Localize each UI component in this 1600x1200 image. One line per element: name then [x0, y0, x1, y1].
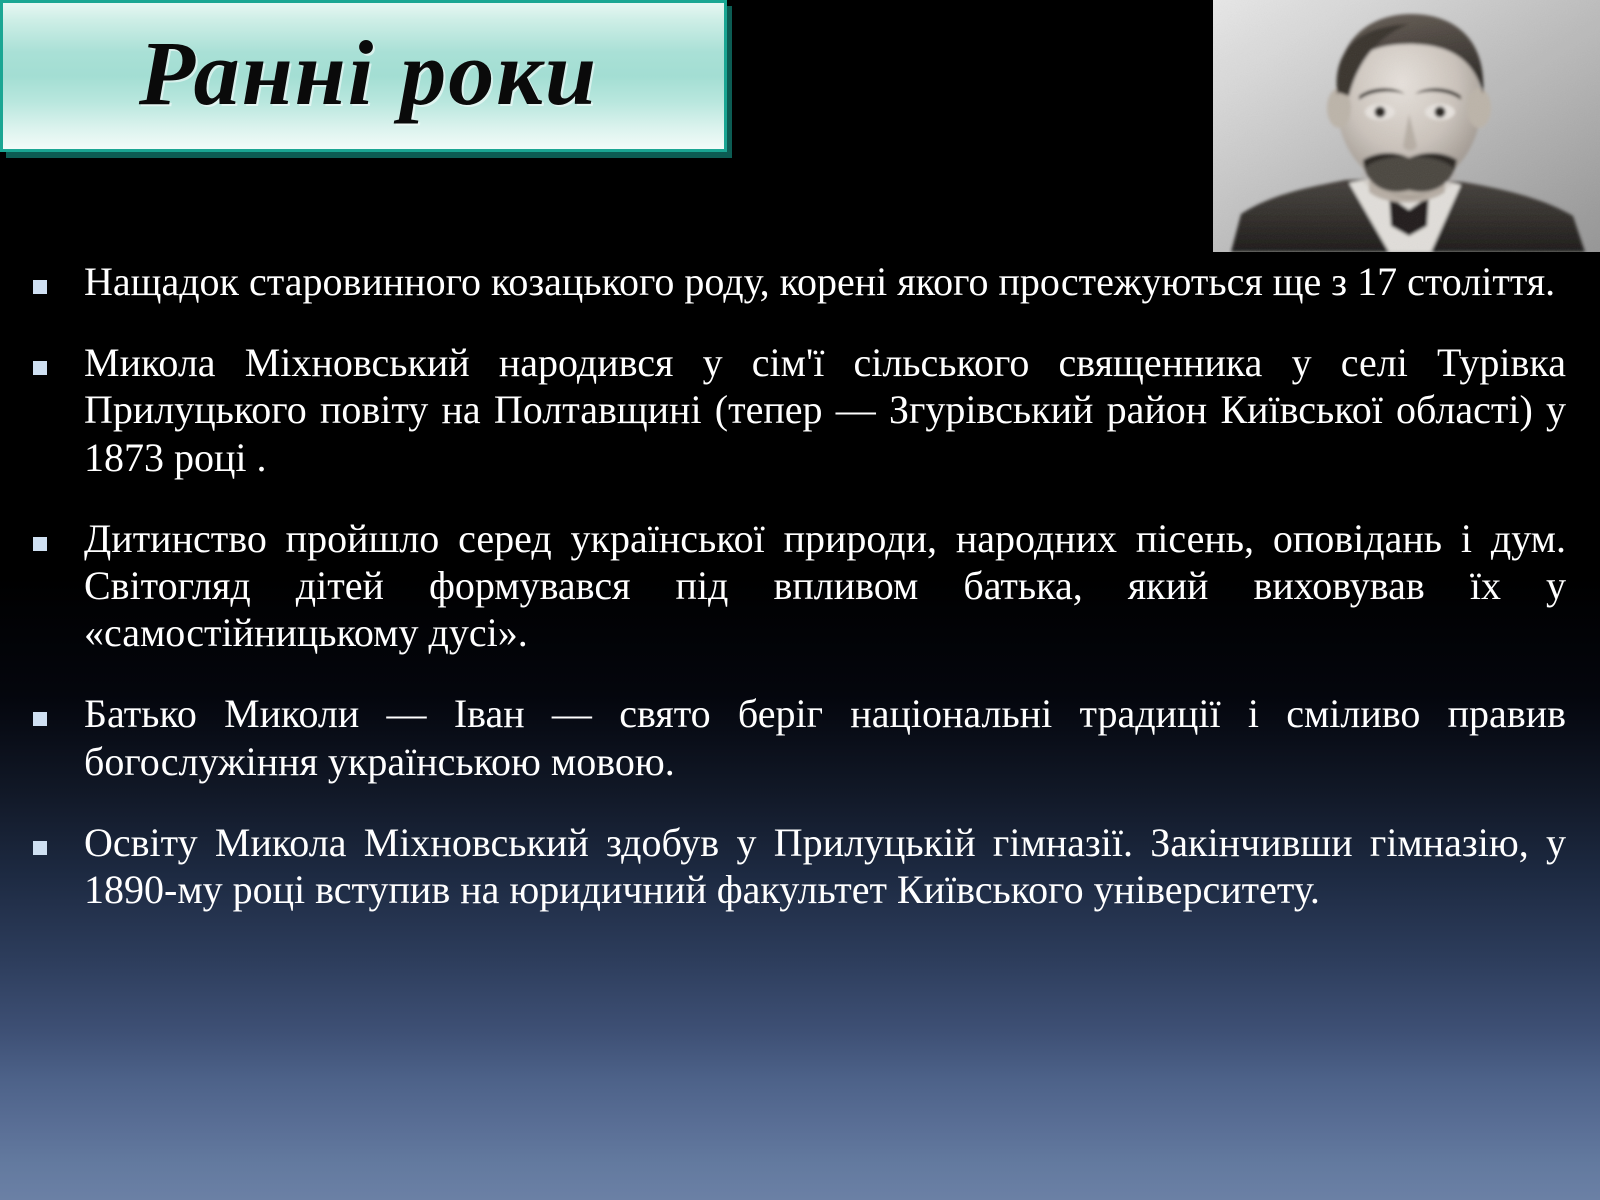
- square-bullet-icon: [33, 712, 47, 726]
- list-item: Нащадок старовинного козацького роду, ко…: [0, 258, 1600, 305]
- title-box: Ранні роки: [0, 0, 727, 152]
- bullet-childhood-text: Дитинство пройшло серед української прир…: [84, 515, 1566, 657]
- list-item: Дитинство пройшло серед української прир…: [0, 515, 1600, 657]
- list-item: Батько Миколи — Іван — свято беріг націо…: [0, 690, 1600, 784]
- square-bullet-icon: [33, 361, 47, 375]
- bullet-father-text: Батько Миколи — Іван — свято беріг націо…: [84, 690, 1566, 784]
- bullet-birth-text: Микола Міхновський народився у сім'ї сіл…: [84, 339, 1566, 481]
- bullet-list: Нащадок старовинного козацького роду, ко…: [0, 258, 1600, 947]
- square-bullet-icon: [33, 280, 47, 294]
- list-item: Освіту Микола Міхновський здобув у Прилу…: [0, 819, 1600, 913]
- bullet-education-text: Освіту Микола Міхновський здобув у Прилу…: [84, 819, 1566, 913]
- square-bullet-icon: [33, 537, 47, 551]
- portrait-photo: [1213, 0, 1600, 252]
- square-bullet-icon: [33, 841, 47, 855]
- portrait-photo-image: [1213, 0, 1600, 252]
- list-item: Микола Міхновський народився у сім'ї сіл…: [0, 339, 1600, 481]
- page-title: Ранні роки: [129, 27, 598, 125]
- presentation-slide: Ранні роки: [0, 0, 1600, 1200]
- bullet-ancestry-text: Нащадок старовинного козацького роду, ко…: [84, 258, 1566, 305]
